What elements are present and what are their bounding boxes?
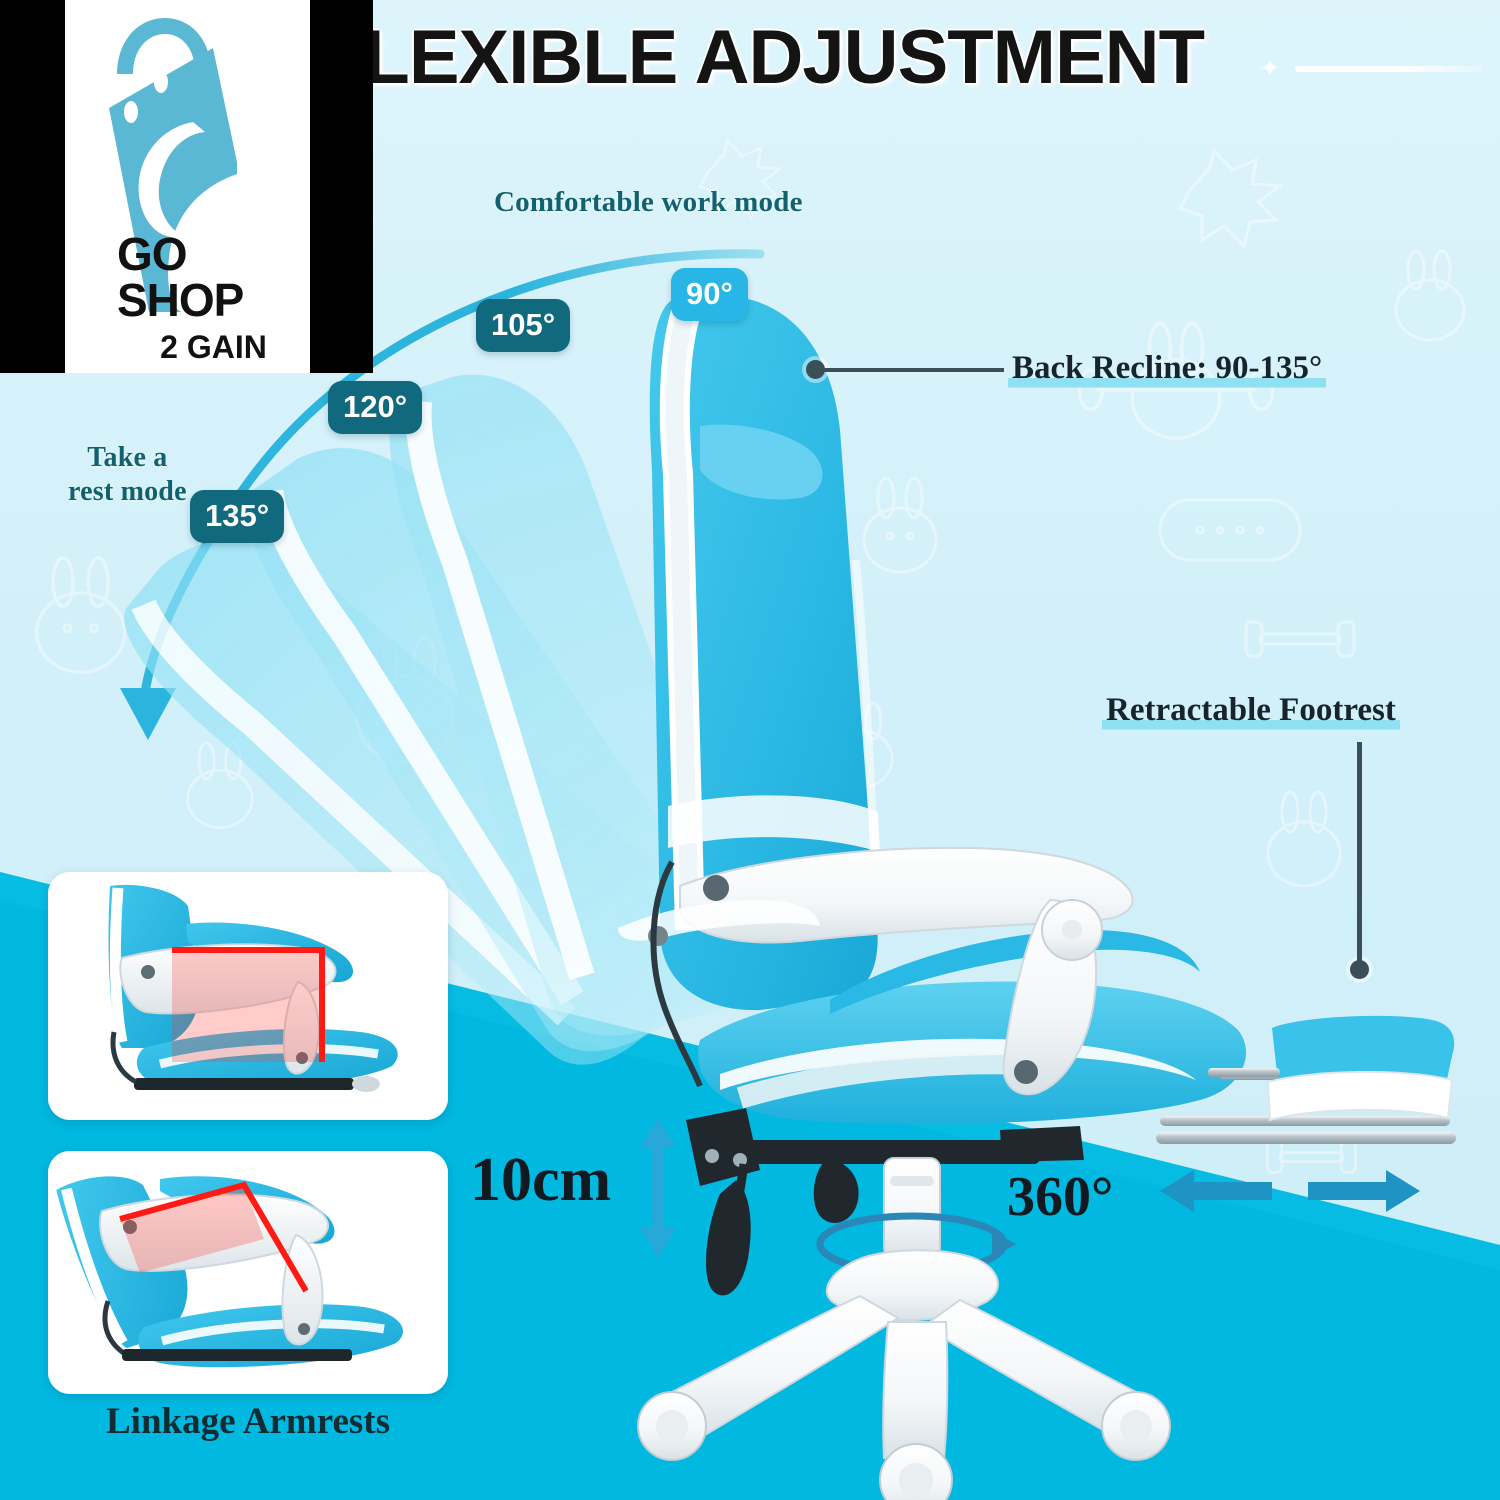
inset-armrest-angle-2: [48, 1151, 448, 1394]
angle-badge-120: 120°: [328, 381, 422, 434]
watermark-overlay: GO SHOP 2 GAIN: [0, 0, 373, 373]
rest-mode-line-2: rest mode: [68, 476, 187, 507]
callout-back-recline: Back Recline: 90-135°: [1008, 350, 1326, 389]
label-comfortable-work-mode: Comfortable work mode: [494, 186, 803, 219]
brand-logo-card: GO SHOP 2 GAIN: [65, 0, 310, 373]
inset-armrest-angle-1: [48, 872, 448, 1120]
brand-name: GO SHOP: [117, 231, 310, 323]
footrest-leader-line: [1357, 742, 1362, 964]
rest-mode-line-1: Take a: [87, 442, 167, 473]
label-swivel-360: 360°: [1007, 1165, 1113, 1229]
recline-leader-dot: [806, 360, 825, 379]
recline-leader-line: [824, 368, 1004, 372]
angle-badge-135: 135°: [190, 490, 284, 543]
angle-badge-105: 105°: [476, 299, 570, 352]
page-title: FLEXIBLE ADJUSTMENT: [318, 14, 1204, 101]
star-icon: ✦: [1259, 56, 1285, 82]
height-adjust-arrow: [636, 1118, 680, 1258]
label-height-adjust: 10cm: [470, 1145, 611, 1216]
angle-badge-90: 90°: [671, 268, 748, 321]
caption-linkage-armrests: Linkage Armrests: [48, 1400, 448, 1443]
brand-tagline: 2 GAIN: [160, 331, 267, 363]
label-take-a-rest-mode: Take a rest mode: [68, 441, 187, 509]
decor-line: [1295, 66, 1483, 72]
footrest-extend-arrows: [1160, 1166, 1420, 1216]
infographic-canvas: Comfortable work mode mode Take a rest m…: [0, 0, 1500, 1500]
callout-retractable-footrest: Retractable Footrest: [1102, 692, 1400, 731]
